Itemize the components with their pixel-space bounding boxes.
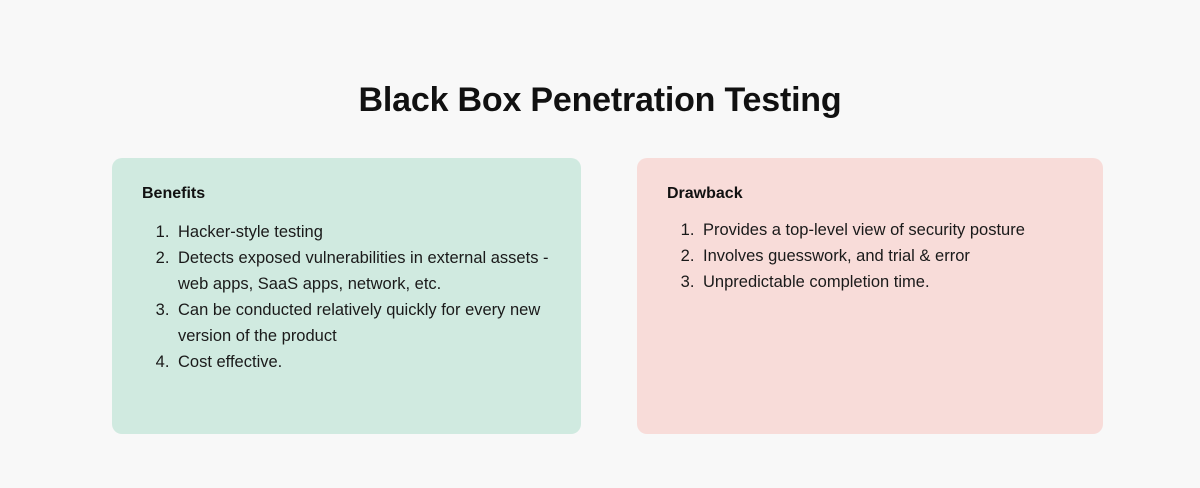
list-item: Hacker-style testing xyxy=(174,219,559,245)
comparison-cards: Benefits Hacker-style testing Detects ex… xyxy=(112,158,1103,434)
benefits-card: Benefits Hacker-style testing Detects ex… xyxy=(112,158,581,434)
benefits-list: Hacker-style testing Detects exposed vul… xyxy=(142,219,559,375)
list-item: Can be conducted relatively quickly for … xyxy=(174,297,559,349)
drawback-card: Drawback Provides a top-level view of se… xyxy=(637,158,1103,434)
list-item: Provides a top-level view of security po… xyxy=(699,217,1081,243)
list-item: Detects exposed vulnerabilities in exter… xyxy=(174,245,559,297)
benefits-heading: Benefits xyxy=(142,184,559,203)
page-title: Black Box Penetration Testing xyxy=(0,80,1200,121)
list-item: Cost effective. xyxy=(174,349,559,375)
list-item: Involves guesswork, and trial & error xyxy=(699,243,1081,269)
list-item: Unpredictable completion time. xyxy=(699,269,1081,295)
drawback-list: Provides a top-level view of security po… xyxy=(667,217,1081,295)
page-root: Black Box Penetration Testing Benefits H… xyxy=(0,0,1200,488)
drawback-heading: Drawback xyxy=(667,184,1081,203)
